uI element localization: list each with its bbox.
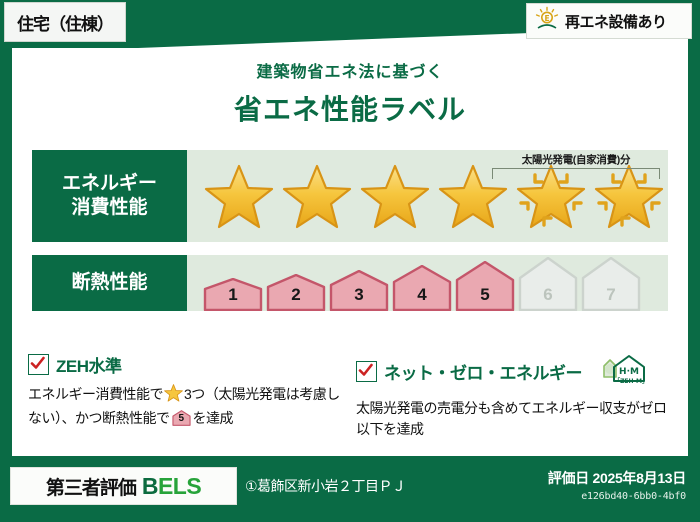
evaluation-info: 評価日 2025年8月13日 e126bd40-6bb0-4bf0	[548, 468, 686, 502]
performance-rows: エネルギー 消費性能 太陽光発電(自家消費)分	[32, 150, 668, 324]
bels-logo-els: ELS	[158, 473, 201, 499]
criterion-zeh: ZEH水準 エネルギー消費性能で3つ（太陽光発電は考慮しない）、かつ断熱性能で5…	[28, 352, 344, 441]
insulation-level-house: 2	[266, 274, 326, 311]
criterion-net-zero: ネット・ゼロ・エネルギー H·M 「ZEH-M」 太陽光発電の売電分も含めてエネ…	[356, 352, 672, 441]
insulation-level-house: 4	[392, 265, 452, 311]
star-icon	[201, 159, 277, 233]
label-footer: 第三者評価 BELS ①葛飾区新小岩２丁目ＰＪ 評価日 2025年8月13日 e…	[0, 456, 700, 522]
insulation-level-house: 7	[581, 257, 641, 311]
criterion-net-zero-header: ネット・ゼロ・エネルギー H·M 「ZEH-M」	[356, 352, 672, 391]
energy-performance-label: エネルギー 消費性能	[32, 150, 187, 242]
insulation-level-number: 1	[203, 285, 263, 305]
criterion-zeh-title: ZEH水準	[56, 352, 122, 377]
renewable-equipment-badge: E 再エネ設備あり	[526, 3, 692, 39]
solar-bracket	[492, 168, 660, 179]
criterion-zeh-suffix: を達成	[193, 410, 234, 426]
star-icon	[357, 159, 433, 233]
criterion-net-zero-body: 太陽光発電の売電分も含めてエネルギー収支がゼロ以下を達成	[356, 398, 672, 441]
zeh-m-logo-text: H·M	[619, 367, 639, 377]
insulation-label-text: 断熱性能	[71, 271, 147, 295]
insulation-level-number: 2	[266, 285, 326, 305]
zeh-m-logo-caption: 「ZEH-M」	[614, 377, 648, 385]
sun-renewable-icon: E	[534, 6, 560, 37]
criterion-zeh-header: ZEH水準	[28, 352, 344, 377]
bels-logo: BELS	[142, 473, 201, 500]
criterion-zeh-level: 5	[172, 411, 191, 426]
star-icon	[279, 159, 355, 233]
bels-jp-text: 第三者評価	[46, 473, 136, 500]
insulation-level-house: 1	[203, 278, 263, 311]
solar-note-caption: 太陽光発電(自家消費)分	[492, 152, 660, 167]
insulation-level-number: 6	[518, 285, 578, 305]
renewable-badge-label: 再エネ設備あり	[565, 11, 667, 32]
property-address: ①葛飾区新小岩２丁目ＰＪ	[245, 476, 406, 496]
criterion-zeh-body: エネルギー消費性能で3つ（太陽光発電は考慮しない）、かつ断熱性能で5を達成	[28, 384, 344, 430]
insulation-level-scale: 1 2 3 4	[187, 255, 641, 311]
criterion-zeh-prefix: エネルギー消費性能で	[28, 386, 163, 402]
insulation-level-house: 5	[455, 261, 515, 311]
insulation-level-house: 6	[518, 257, 578, 311]
energy-label-line1: エネルギー	[62, 172, 157, 196]
insulation-level-number: 3	[329, 285, 389, 305]
insulation-performance-row: 断熱性能 1 2 3	[32, 255, 668, 311]
insulation-level-house: 3	[329, 270, 389, 311]
bels-certification-badge: 第三者評価 BELS	[10, 467, 237, 505]
checkmark-icon	[356, 361, 377, 382]
insulation-level-number: 4	[392, 285, 452, 305]
criteria-section: ZEH水準 エネルギー消費性能で3つ（太陽光発電は考慮しない）、かつ断熱性能で5…	[28, 352, 672, 441]
document-type-tab: 住宅（住棟）	[4, 2, 126, 42]
insulation-level-number: 5	[455, 285, 515, 305]
energy-performance-row: エネルギー 消費性能 太陽光発電(自家消費)分	[32, 150, 668, 242]
bels-logo-b: B	[142, 473, 158, 499]
label-title-block: 建築物省エネ法に基づく 省エネ性能ラベル	[0, 58, 700, 128]
evaluation-id: e126bd40-6bb0-4bf0	[548, 491, 686, 502]
zeh-m-logo: H·M 「ZEH-M」	[591, 352, 653, 391]
insulation-performance-label: 断熱性能	[32, 255, 187, 311]
energy-label-line2: 消費性能	[71, 196, 147, 220]
evaluation-date: 評価日 2025年8月13日	[548, 468, 686, 488]
energy-performance-body: 太陽光発電(自家消費)分	[187, 150, 668, 242]
energy-performance-label: 住宅（住棟） E 再エネ設備あり 建築物省エネ法に基づく 省エネ性能ラベル	[0, 0, 700, 522]
title-main: 省エネ性能ラベル	[0, 88, 700, 128]
title-subtitle: 建築物省エネ法に基づく	[0, 58, 700, 82]
criterion-net-zero-title: ネット・ゼロ・エネルギー	[384, 359, 582, 384]
solar-self-consumption-note: 太陽光発電(自家消費)分	[492, 152, 660, 179]
document-type-label: 住宅（住棟）	[17, 10, 113, 35]
insulation-level-number: 7	[581, 285, 641, 305]
star-icon-inline	[164, 384, 183, 408]
insulation-level-icon-inline: 5	[172, 409, 191, 427]
checkmark-icon	[28, 354, 49, 375]
insulation-performance-body: 1 2 3 4	[187, 255, 668, 311]
svg-text:E: E	[544, 14, 549, 23]
